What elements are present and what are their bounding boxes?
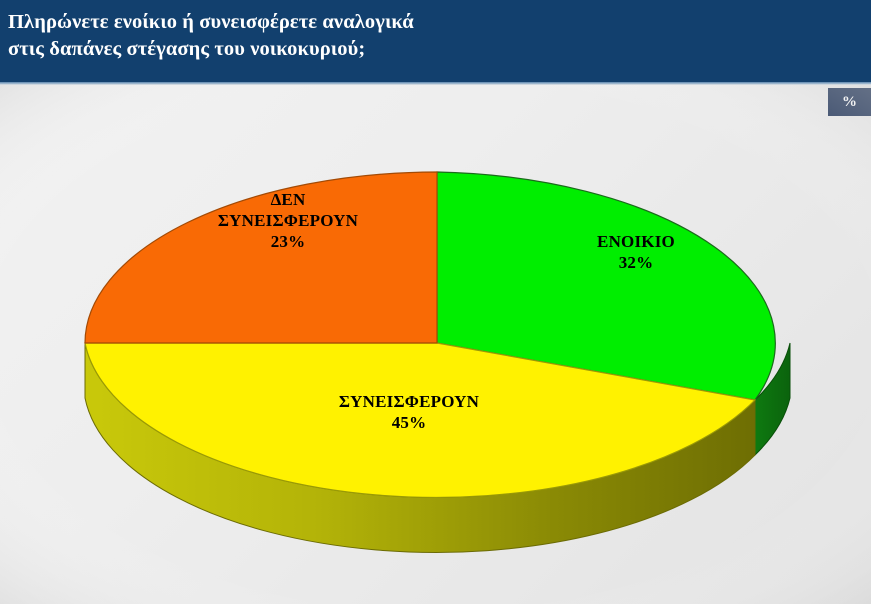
pie-label-synisferoun-value: 45% [300, 412, 518, 433]
slide-header: Πληρώνετε ενοίκιο ή συνεισφέρετε αναλογι… [0, 0, 871, 82]
slide-canvas: Πληρώνετε ενοίκιο ή συνεισφέρετε αναλογι… [0, 0, 871, 604]
pie-chart: ΔΕΝ ΣΥΝΕΙΣΦΕΡΟΥΝ 23% ΕΝΟΙΚΙΟ 32% ΣΥΝΕΙΣΦ… [0, 85, 871, 604]
page-title-line-1: Πληρώνετε ενοίκιο ή συνεισφέρετε αναλογι… [8, 9, 871, 36]
page-title-line-2: στις δαπάνες στέγασης του νοικοκυριού; [8, 36, 871, 63]
pie-label-enoikio-value: 32% [548, 252, 724, 273]
pie-label-enoikio: ΕΝΟΙΚΙΟ 32% [548, 231, 724, 273]
pie-label-den-synisferoun: ΔΕΝ ΣΥΝΕΙΣΦΕΡΟΥΝ 23% [190, 189, 386, 252]
pie-label-synisferoun-line1: ΣΥΝΕΙΣΦΕΡΟΥΝ [300, 391, 518, 412]
pie-label-den-synisferoun-line1: ΔΕΝ [190, 189, 386, 210]
pie-label-synisferoun: ΣΥΝΕΙΣΦΕΡΟΥΝ 45% [300, 391, 518, 433]
pie-label-den-synisferoun-value: 23% [190, 231, 386, 252]
pie-label-den-synisferoun-line2: ΣΥΝΕΙΣΦΕΡΟΥΝ [190, 210, 386, 231]
pie-label-enoikio-line1: ΕΝΟΙΚΙΟ [548, 231, 724, 252]
pie-chart-svg [0, 85, 871, 604]
